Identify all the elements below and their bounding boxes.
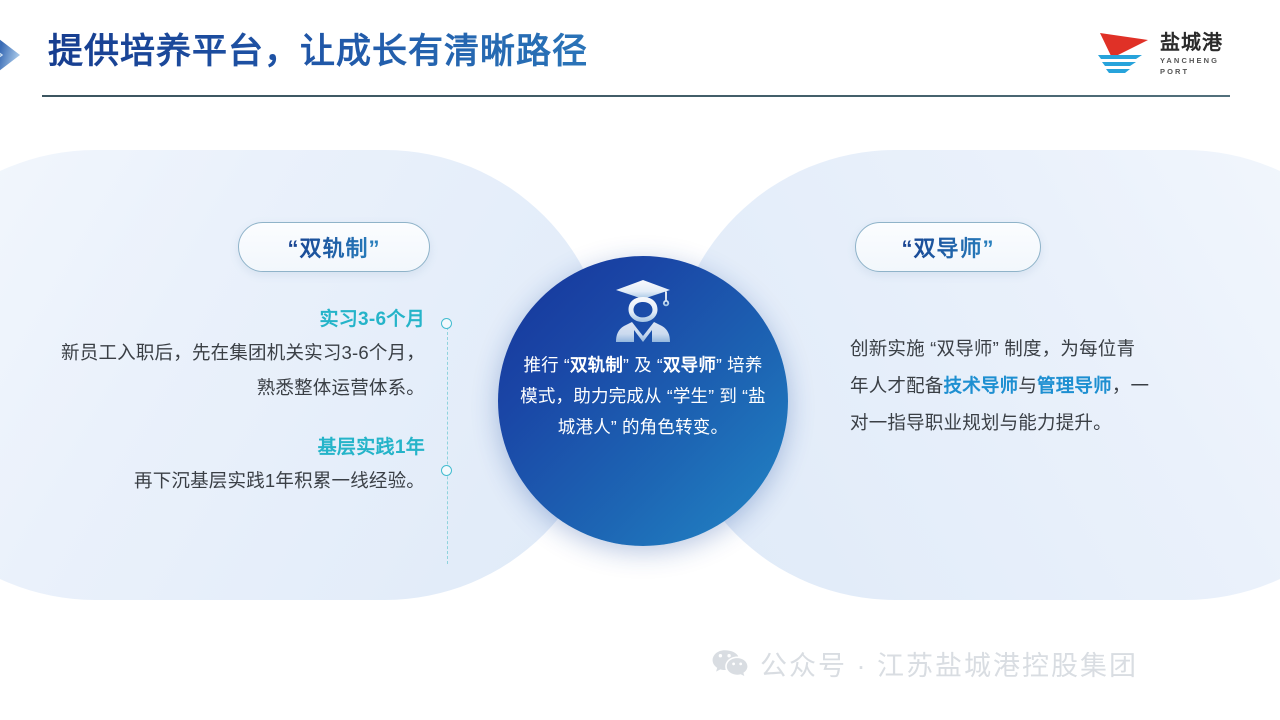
left-block-internship: 实习3-6个月 新员工入职后，先在集团机关实习3-6个月，熟悉整体运营体系。 bbox=[60, 305, 425, 405]
badge-dual-mentor[interactable]: “双导师” bbox=[855, 222, 1041, 272]
header-divider bbox=[42, 95, 1230, 97]
center-text-plain-1: 推行 “ bbox=[523, 355, 570, 375]
logo-name-cn: 盐城港 bbox=[1160, 32, 1240, 55]
left-block-body: 再下沉基层实践1年积累一线经验。 bbox=[60, 463, 425, 498]
wechat-icon bbox=[712, 649, 748, 679]
left-block-heading: 实习3-6个月 bbox=[60, 305, 425, 335]
center-text-bold-dual-track: 双轨制 bbox=[570, 355, 623, 375]
brand-logo: 盐城港 YANCHENG PORT bbox=[1092, 26, 1240, 82]
badge-dual-track-label: “双轨制” bbox=[287, 231, 380, 263]
right-text-highlight-management-mentor: 管理导师 bbox=[1037, 375, 1112, 396]
left-block-body: 新员工入职后，先在集团机关实习3-6个月，熟悉整体运营体系。 bbox=[60, 335, 425, 405]
center-text-bold-dual-mentor: 双导师 bbox=[663, 355, 716, 375]
right-text-plain-2: 与 bbox=[1018, 375, 1037, 396]
chevron-right-icon bbox=[0, 22, 38, 88]
badge-dual-mentor-label: “双导师” bbox=[901, 231, 994, 263]
logo-name-en: YANCHENG PORT bbox=[1160, 55, 1240, 77]
timeline-dot-icon bbox=[441, 318, 452, 329]
badge-dual-track[interactable]: “双轨制” bbox=[238, 222, 430, 272]
left-content-column: 实习3-6个月 新员工入职后，先在集团机关实习3-6个月，熟悉整体运营体系。 基… bbox=[60, 305, 425, 526]
right-content-column: 创新实施 “双导师” 制度，为每位青年人才配备技术导师与管理导师，一对一指导职业… bbox=[850, 330, 1150, 441]
slide-root: 提供培养平台，让成长有清晰路径 盐城港 YANCHENG PORT “双轨制” … bbox=[0, 0, 1280, 720]
center-text-plain-2: ” 及 “ bbox=[623, 355, 663, 375]
right-text-highlight-technical-mentor: 技术导师 bbox=[944, 375, 1019, 396]
timeline-dashed-line bbox=[447, 322, 448, 564]
left-block-heading: 基层实践1年 bbox=[60, 433, 425, 463]
graduate-person-icon bbox=[612, 278, 674, 344]
timeline-connector bbox=[441, 318, 455, 564]
left-block-grassroots: 基层实践1年 再下沉基层实践1年积累一线经验。 bbox=[60, 433, 425, 498]
logo-text-block: 盐城港 YANCHENG PORT bbox=[1160, 32, 1240, 77]
center-summary-circle: 推行 “双轨制” 及 “双导师” 培养模式，助力完成从 “学生” 到 “盐城港人… bbox=[498, 256, 788, 546]
center-summary-text: 推行 “双轨制” 及 “双导师” 培养模式，助力完成从 “学生” 到 “盐城港人… bbox=[514, 350, 772, 443]
timeline-dot-icon bbox=[441, 465, 452, 476]
yancheng-port-sail-logo-icon bbox=[1092, 29, 1152, 79]
watermark: 公众号 · 江苏盐城港控股集团 bbox=[712, 644, 1138, 683]
slide-header: 提供培养平台，让成长有清晰路径 盐城港 YANCHENG PORT bbox=[0, 0, 1280, 108]
right-body-text: 创新实施 “双导师” 制度，为每位青年人才配备技术导师与管理导师，一对一指导职业… bbox=[850, 330, 1150, 441]
watermark-text: 公众号 · 江苏盐城港控股集团 bbox=[760, 644, 1138, 683]
page-title: 提供培养平台，让成长有清晰路径 bbox=[48, 28, 588, 76]
